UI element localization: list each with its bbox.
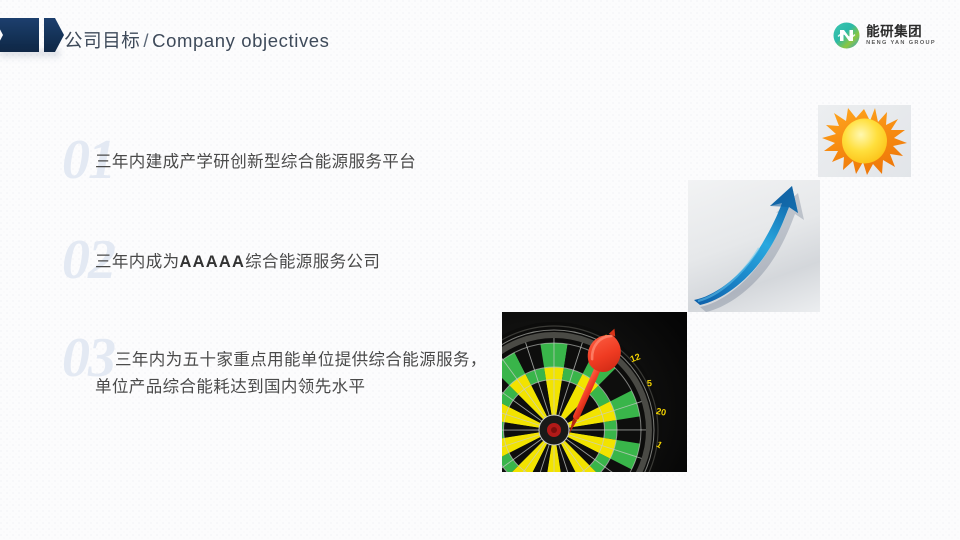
dartboard-illustration: 9 12 5 20 1 18 4 <box>502 312 687 472</box>
growth-arrow-illustration <box>688 180 820 312</box>
objective-text-02-after: 综合能源服务公司 <box>245 253 380 271</box>
slide-canvas: 公司目标/Company objectives <box>0 0 960 540</box>
objective-text-02-before: 三年内成为 <box>95 253 180 271</box>
objective-text-03: 三年内为五十家重点用能单位提供综合能源服务，单位产品综合能耗达到国内领先水平 <box>95 347 500 400</box>
sun-illustration <box>818 105 911 177</box>
svg-text:5: 5 <box>647 378 653 388</box>
svg-text:20: 20 <box>655 406 667 418</box>
objective-text-02: 三年内成为AAAAA综合能源服务公司 <box>95 249 535 276</box>
objective-text-02-emphasis: AAAAA <box>180 253 246 271</box>
objective-text-01: 三年内建成产学研创新型综合能源服务平台 <box>95 149 565 176</box>
